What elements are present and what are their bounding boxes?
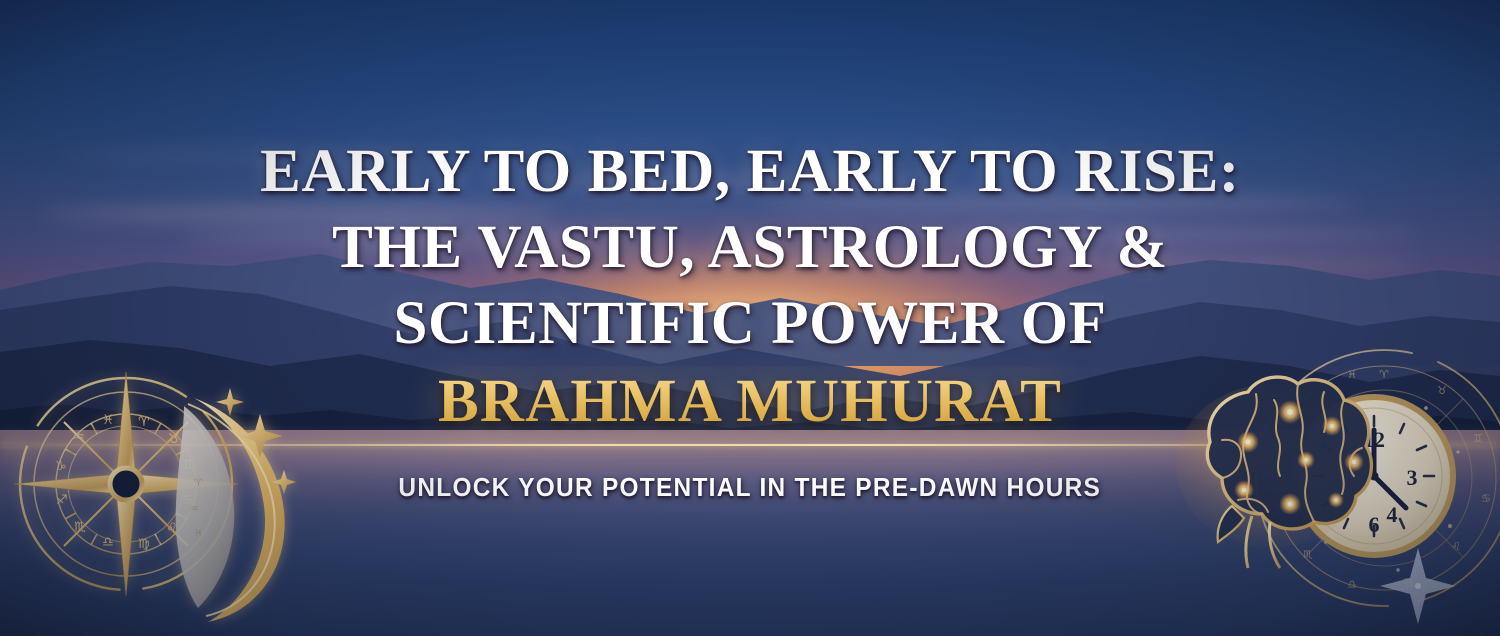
svg-text:♎: ♎: [1347, 578, 1357, 591]
svg-text:♉: ♉: [1437, 384, 1447, 397]
brain-clock-zodiac-ornament: ♈ ♉ ♊ ♋ ♌ ♍ ♎ ♏ ♐ ♑ ♒ ♓: [1186, 330, 1496, 630]
clock-numeral-3: 3: [1407, 465, 1418, 490]
headline-line-3: SCIENTIFIC POWER OF: [260, 286, 1240, 362]
svg-text:♓: ♓: [102, 413, 114, 428]
headline-line-1: EARLY TO BED, EARLY TO RISE:: [260, 134, 1240, 210]
svg-text:♑: ♑: [55, 459, 67, 474]
svg-text:♌: ♌: [1451, 540, 1461, 553]
headline-line-2: THE VASTU, ASTROLOGY &: [260, 210, 1240, 286]
svg-text:♍: ♍: [138, 537, 150, 552]
svg-text:♓: ♓: [1347, 368, 1357, 381]
svg-text:♈: ♈: [194, 478, 203, 489]
zodiac-compass-moon-ornament: ♈ ♉ ♓ ♒ ♑ ♐ ♏ ♎ ♍ ♌ ♋ ♊: [8, 336, 308, 604]
sparkle-star-icon: [1380, 548, 1456, 624]
clock-numeral-4: 4: [1387, 502, 1398, 527]
headline-accent-brahma-muhurat: BRAHMA MUHURAT: [438, 366, 1062, 438]
svg-text:♐: ♐: [56, 493, 68, 508]
svg-text:♊: ♊: [1473, 432, 1483, 445]
svg-text:♋: ♋: [1481, 492, 1491, 505]
page-title: EARLY TO BED, EARLY TO RISE: THE VASTU, …: [260, 134, 1240, 362]
clock-numeral-6: 6: [1369, 512, 1380, 537]
hero-banner: EARLY TO BED, EARLY TO RISE: THE VASTU, …: [0, 0, 1500, 636]
svg-text:♒: ♒: [190, 504, 199, 515]
svg-text:♏: ♏: [1303, 548, 1313, 561]
crescent-moon-icon: ♈ ♒ ♓: [176, 398, 285, 622]
svg-text:♈: ♈: [1379, 368, 1389, 381]
svg-text:♓: ♓: [194, 528, 203, 539]
svg-text:♈: ♈: [138, 415, 150, 430]
subtitle: UNLOCK YOUR POTENTIAL IN THE PRE-DAWN HO…: [399, 472, 1102, 503]
svg-text:♎: ♎: [102, 535, 114, 550]
